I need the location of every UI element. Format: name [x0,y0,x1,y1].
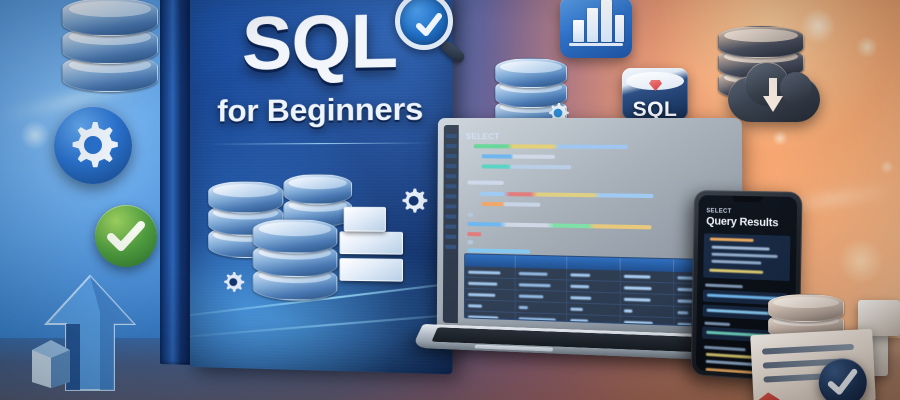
line-number [445,194,456,198]
line-number [446,164,457,168]
line-number [446,184,457,188]
line-number [446,174,457,178]
db-disc [495,58,567,88]
sql-database-label: SQL [622,98,688,120]
code-line [481,202,540,207]
line-number [446,134,457,138]
code-line [479,192,653,198]
db-disc-top [288,177,347,190]
grid-cell [516,313,568,325]
phone-heading: Query Results [706,215,778,229]
bokeh-light [880,160,894,174]
chart-bar [573,20,584,42]
db-disc-top [773,297,838,308]
magnifier-handle [439,39,466,64]
line-number [445,245,456,249]
db-disc-top [69,1,152,17]
database-stack-icon [62,0,158,102]
sql-database-body: SQL [622,68,688,120]
cube-shape [30,336,72,388]
cover-divider [208,142,433,144]
bokeh-light [772,130,788,146]
phone-code-line [704,322,730,326]
db-disc [718,26,804,58]
check-circle-green-icon [95,205,157,267]
grid-cell [568,303,621,315]
bokeh-light [856,36,878,58]
chart-bar [615,15,624,42]
code-line [467,222,651,230]
certificate-line [763,373,825,382]
scene-canvas: SQL for Beginners [0,0,900,400]
phone-code-line [705,284,743,289]
code-line [467,213,473,217]
grid-cell [516,290,568,302]
certificate-line [762,344,854,355]
gear-icon [216,265,251,300]
line-number [446,144,457,148]
check-glyph [818,357,868,400]
sql-database-icon: SQL [622,58,688,124]
grid-cell [465,311,516,323]
check-glyph [413,9,445,41]
grid-cell [465,278,516,290]
grid-cell [465,300,516,312]
db-disc-top [213,184,278,197]
db-disc-top [259,222,332,237]
chart-bar [587,8,598,42]
bokeh-light [20,120,50,150]
grid-cell [620,271,674,283]
grid-cell [568,269,621,281]
certificate-check-icon [750,329,876,400]
grid-cell [620,293,674,305]
chart-bar [601,0,612,42]
phone-keyword: SELECT [706,208,731,215]
bokeh-light [838,238,884,284]
cloud-lobe [780,72,812,104]
code-line [474,144,628,149]
code-line [467,180,503,184]
grid-cell [620,316,674,327]
chart-baseline [569,43,623,46]
db-disc [283,174,352,205]
document-card [340,258,403,282]
code-line [482,154,555,159]
db-disc-top [500,61,562,73]
code-line [467,240,473,244]
code-line [467,232,481,236]
growth-arrow-icon [0,272,170,400]
phone-code-line [706,368,756,374]
check-circle-navy-icon [818,357,868,400]
document-card [344,207,386,232]
line-number [445,235,456,239]
grid-cell [568,315,621,327]
gear-icon [392,180,435,222]
results-grid[interactable] [464,253,730,327]
grid-cell [516,302,568,314]
grid-cell [465,266,516,278]
db-disc [253,219,338,254]
bokeh-light [800,8,836,44]
gear-icon [54,106,132,184]
grid-cell [620,282,674,294]
book-subtitle: for Beginners [196,90,446,129]
grid-cell [465,289,516,301]
line-number [446,154,457,158]
gear-glyph [54,106,132,184]
database-cylinder [253,217,338,306]
book-spine [160,0,194,365]
line-number [445,204,456,208]
check-glyph [95,205,157,267]
grid-cell [568,281,621,293]
grid-cell [620,305,674,317]
phone-notch [732,196,762,203]
bar-chart-icon [560,0,632,58]
line-number [445,225,456,229]
download-arrow-glyph [762,76,784,114]
phone-code-line [704,346,746,352]
grid-cell [516,279,568,291]
db-disc [208,181,283,214]
db-disc-top [724,29,798,42]
grid-cell [516,268,568,280]
grid-cell [568,292,621,304]
document-card [340,231,403,254]
editor-keyword: SELECT [466,132,500,141]
code-line [482,164,572,169]
db-disc [62,0,158,36]
line-number [445,214,456,218]
db-disc [768,294,844,322]
magnifier-check-icon [395,0,465,62]
